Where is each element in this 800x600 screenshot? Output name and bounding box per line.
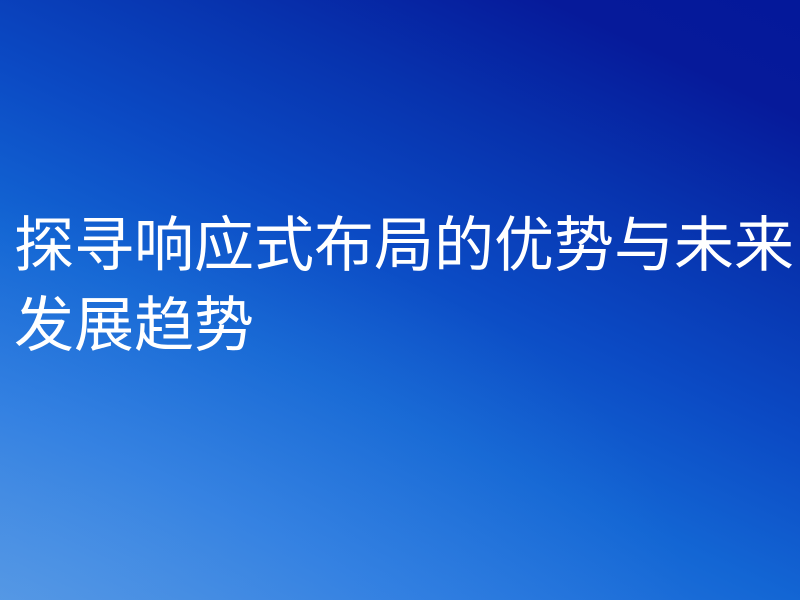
banner-headline: 探寻响应式布局的优势与未来 发展趋势: [14, 206, 800, 366]
title-banner: 探寻响应式布局的优势与未来 发展趋势: [0, 0, 800, 600]
